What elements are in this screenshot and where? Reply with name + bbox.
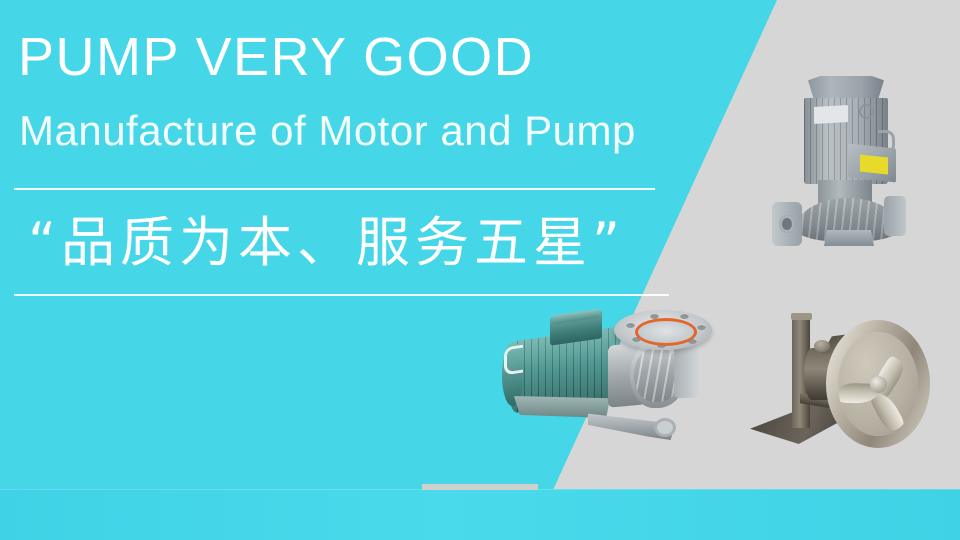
bottom-cyan-band xyxy=(0,489,960,540)
banner-subheadline: Manufacture of Motor and Pump xyxy=(19,105,636,157)
fan-badge-icon xyxy=(859,104,874,119)
motor-top-cover xyxy=(808,76,884,100)
support-foot xyxy=(824,230,874,246)
propeller-assembly xyxy=(838,332,918,436)
banner-slogan: “品质为本、服务五星” xyxy=(28,198,625,288)
product-image-horizontal-motor-pump-unit xyxy=(492,308,722,458)
promo-banner: PUMP VERY GOOD Manufacture of Motor and … xyxy=(0,0,960,540)
cable-knob xyxy=(814,340,830,352)
discharge-flange xyxy=(674,344,700,398)
yellow-terminal-label xyxy=(860,155,888,175)
divider-rule-top xyxy=(14,188,655,190)
product-image-vertical-inline-pipeline-pump xyxy=(752,62,928,248)
suction-flange xyxy=(772,202,802,246)
flange-bolt xyxy=(697,324,706,330)
divider-rule-bottom xyxy=(14,294,669,296)
post-cap xyxy=(791,313,812,320)
banner-headline: PUMP VERY GOOD xyxy=(18,26,534,88)
product-image-submersible-mixer-agitator xyxy=(748,300,948,462)
flange-bolt xyxy=(680,313,689,319)
lifting-handle xyxy=(504,345,523,376)
foot-eye xyxy=(654,418,676,437)
nameplate xyxy=(814,105,848,124)
propeller-hub xyxy=(870,376,887,393)
flange-bolt xyxy=(626,322,635,328)
gray-ledge-accent xyxy=(422,484,538,490)
orange-gasket-ring xyxy=(635,318,697,346)
discharge-flange xyxy=(884,196,906,236)
